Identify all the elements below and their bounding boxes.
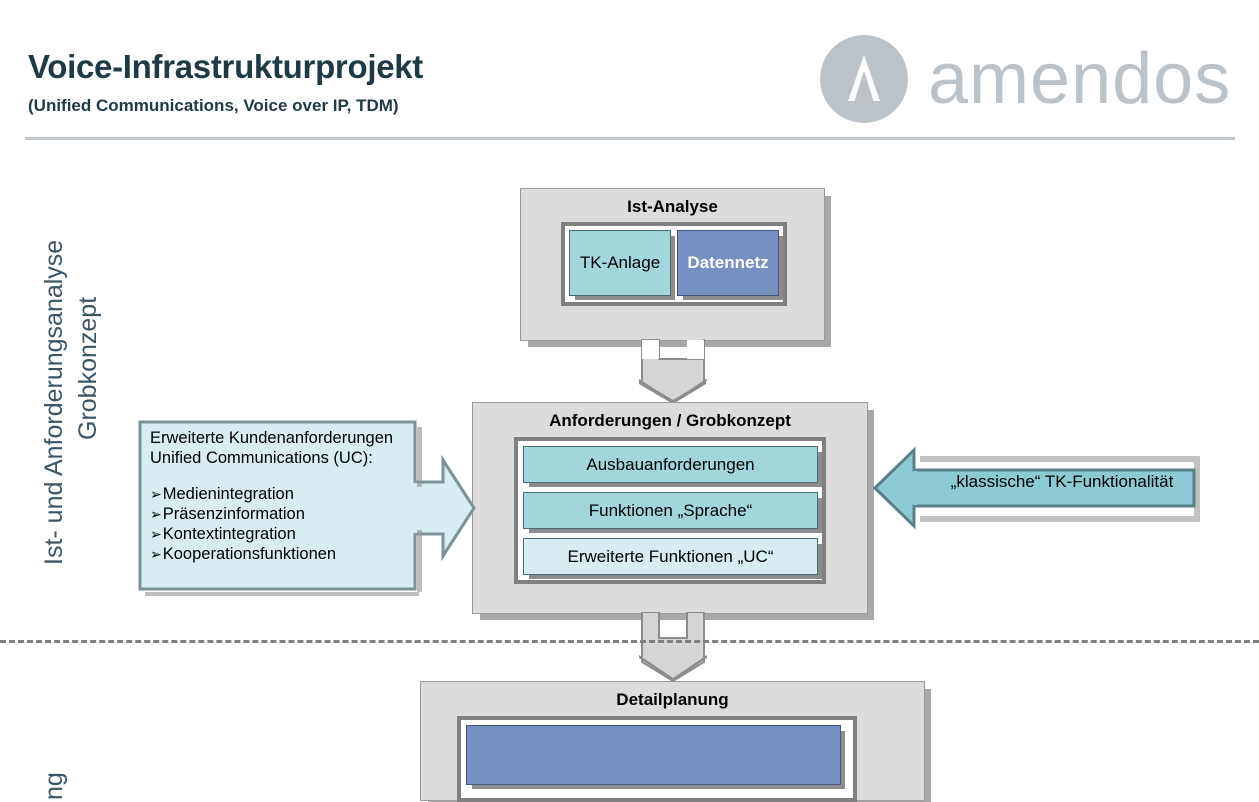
bullet-arrow-icon: ➢ (150, 526, 163, 542)
item-funktionen-sprache[interactable]: Funktionen „Sprache“ (523, 492, 818, 529)
callout-left-heading-2: Unified Communications (UC): (150, 448, 418, 468)
arrow-anforderungen-to-detailplanung-icon (637, 612, 709, 684)
callout-left-bullet-0-label: Medienintegration (163, 485, 294, 503)
page-title: Voice-Infrastrukturprojekt (28, 48, 423, 86)
brand-name: amendos (928, 36, 1231, 122)
bullet-arrow-icon: ➢ (150, 506, 163, 522)
phase-divider-dashed (0, 640, 1259, 643)
page-subtitle: (Unified Communications, Voice over IP, … (28, 96, 399, 116)
item-datennetz-label: Datennetz (687, 253, 768, 273)
callout-left-content: Erweiterte Kundenanforderungen Unified C… (150, 428, 418, 564)
item-erweiterte-funktionen-uc[interactable]: Erweiterte Funktionen „UC“ (523, 538, 818, 575)
callout-left-bullet-2-label: Kontextintegration (163, 525, 296, 543)
stage-detailplanung-inner-frame (457, 716, 857, 802)
stage-anforderungen-grobkonzept[interactable]: Anforderungen / Grobkonzept Ausbauanford… (472, 402, 868, 614)
item-detailplanung-first[interactable] (466, 725, 841, 785)
stage-detailplanung[interactable]: Detailplanung (420, 681, 925, 801)
item-tk-anlage-label: TK-Anlage (580, 253, 660, 273)
stage-ist-analyse[interactable]: Ist-Analyse TK-Anlage Datennetz (520, 188, 825, 341)
arrow-ist-to-anforderungen-icon (637, 339, 709, 405)
phase-label-detailplanung-partial: ng (40, 772, 69, 800)
slide-canvas: Voice-Infrastrukturprojekt (Unified Comm… (0, 0, 1259, 739)
item-funktionen-sprache-label: Funktionen „Sprache“ (589, 501, 752, 521)
header-divider-rule (25, 137, 1235, 140)
callout-left-heading-1: Erweiterte Kundenanforderungen (150, 428, 418, 448)
callout-right-label: „klassische“ TK-Funktionalität (932, 472, 1192, 492)
callout-left-bullet-1: ➢Präsenzinformation (150, 504, 418, 524)
callout-erweiterte-kundenanforderungen[interactable]: Erweiterte Kundenanforderungen Unified C… (138, 420, 478, 596)
amendos-lambda-mark-icon (820, 35, 908, 123)
slide-header: Voice-Infrastrukturprojekt (Unified Comm… (0, 0, 1259, 140)
stage-ist-analyse-inner-frame: TK-Anlage Datennetz (561, 222, 787, 306)
callout-left-bullet-2: ➢Kontextintegration (150, 524, 418, 544)
phase-label-grobkonzept: Grobkonzept (74, 297, 103, 440)
callout-left-bullet-0: ➢Medienintegration (150, 484, 418, 504)
phase-label-ist-anforderungsanalyse: Ist- und Anforderungsanalyse (40, 240, 69, 565)
stage-detailplanung-title: Detailplanung (421, 690, 924, 710)
stage-ist-analyse-title: Ist-Analyse (521, 197, 824, 217)
callout-left-bullet-3-label: Kooperationsfunktionen (163, 545, 336, 563)
item-datennetz[interactable]: Datennetz (677, 230, 779, 296)
bullet-arrow-icon: ➢ (150, 546, 163, 562)
item-ausbauanforderungen[interactable]: Ausbauanforderungen (523, 446, 818, 483)
callout-klassische-tk-funktionalitaet[interactable]: „klassische“ TK-Funktionalität (872, 442, 1202, 534)
callout-left-bullet-1-label: Präsenzinformation (163, 505, 305, 523)
callout-left-spacer (150, 468, 418, 484)
bullet-arrow-icon: ➢ (150, 486, 163, 502)
item-tk-anlage[interactable]: TK-Anlage (569, 230, 671, 296)
stage-anforderungen-inner-frame: Ausbauanforderungen Funktionen „Sprache“… (514, 437, 826, 584)
brand-logo: amendos (820, 32, 1240, 128)
item-erweiterte-funktionen-uc-label: Erweiterte Funktionen „UC“ (568, 547, 774, 567)
callout-left-bullet-3: ➢Kooperationsfunktionen (150, 544, 418, 564)
stage-anforderungen-title: Anforderungen / Grobkonzept (473, 411, 867, 431)
item-ausbauanforderungen-label: Ausbauanforderungen (586, 455, 754, 475)
